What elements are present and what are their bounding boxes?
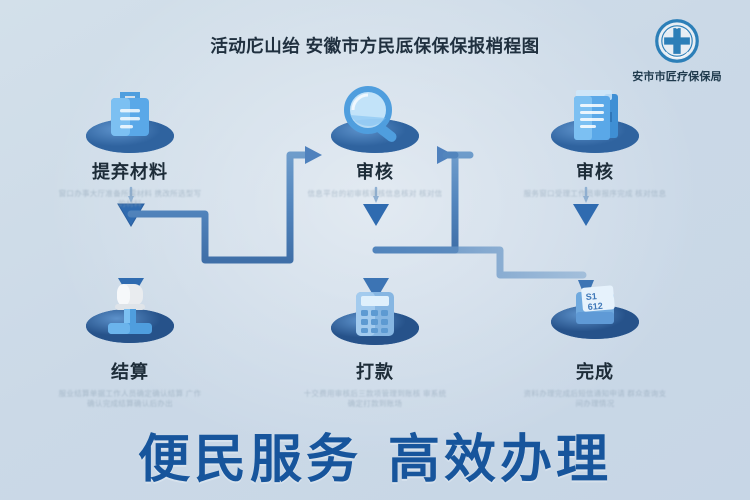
node-subtitle: 资料办理完成后短信通知申请 群众查询支间办理情况 — [520, 389, 670, 409]
flow-node-review-second[interactable]: 审核 服务窗口受理工作员审报序完成 核对信息 — [520, 78, 670, 199]
svg-text:612: 612 — [587, 301, 603, 312]
bottom-slogan: 便民服务高效办理 — [0, 417, 750, 492]
node-subtitle: 信息平台的初审核审核信息核对 核对信 — [300, 189, 450, 199]
slogan-right: 高效办理 — [388, 431, 612, 489]
flow-node-settlement[interactable]: 结算 服业结算单据工作人员确定确认结算 广作确认完成结算确认后办出 — [55, 278, 205, 409]
node-subtitle: 服业结算单据工作人员确定确认结算 广作确认完成结算确认后办出 — [55, 389, 205, 409]
flow-node-complete[interactable]: S1 612 完成 资料办理完成后短信通知申请 群众查询支间办理情况 — [520, 278, 670, 409]
flow-node-review-first[interactable]: 审核 信息平台的初审核审核信息核对 核对信 — [300, 78, 450, 199]
magnifier-icon — [310, 78, 440, 156]
node-subtitle: 十交费用审核后三款项管理到账核 审系统确定打款到账场 — [300, 389, 450, 409]
node-label: 提弃材料 — [55, 158, 205, 184]
connector-settlement-to-payment-link — [376, 250, 583, 275]
document-icon — [530, 78, 660, 156]
node-subtitle: 服务窗口受理工作员审报序完成 核对信息 — [520, 189, 670, 199]
node-artwork — [520, 78, 670, 156]
pos-terminal-icon — [310, 278, 440, 356]
node-label: 完成 — [520, 358, 670, 384]
node-artwork — [55, 278, 205, 356]
stamp-icon — [65, 278, 195, 356]
node-subtitle: 窗口办事大厅准备所需材料 携改所选型写的材料 — [55, 189, 205, 209]
node-artwork: S1 612 — [520, 278, 670, 356]
node-artwork — [300, 78, 450, 156]
node-artwork — [55, 78, 205, 156]
slogan-left: 便民服务 — [138, 431, 362, 489]
infographic-canvas: 活动庀山绐 安徽市方民厎保保保报梢程图 安市市匠疗保保局 — [0, 0, 750, 500]
briefcase-icon — [65, 78, 195, 156]
node-label: 审核 — [520, 158, 670, 184]
node-label: 审核 — [300, 158, 450, 184]
node-artwork — [300, 278, 450, 356]
payment-card-icon: S1 612 — [530, 278, 660, 356]
flow-node-submit-materials[interactable]: 提弃材料 窗口办事大厅准备所需材料 携改所选型写的材料 — [55, 78, 205, 209]
node-label: 结算 — [55, 358, 205, 384]
flow-node-payment[interactable]: 打款 十交费用审核后三款项管理到账核 审系统确定打款到账场 — [300, 278, 450, 409]
node-label: 打款 — [300, 358, 450, 384]
